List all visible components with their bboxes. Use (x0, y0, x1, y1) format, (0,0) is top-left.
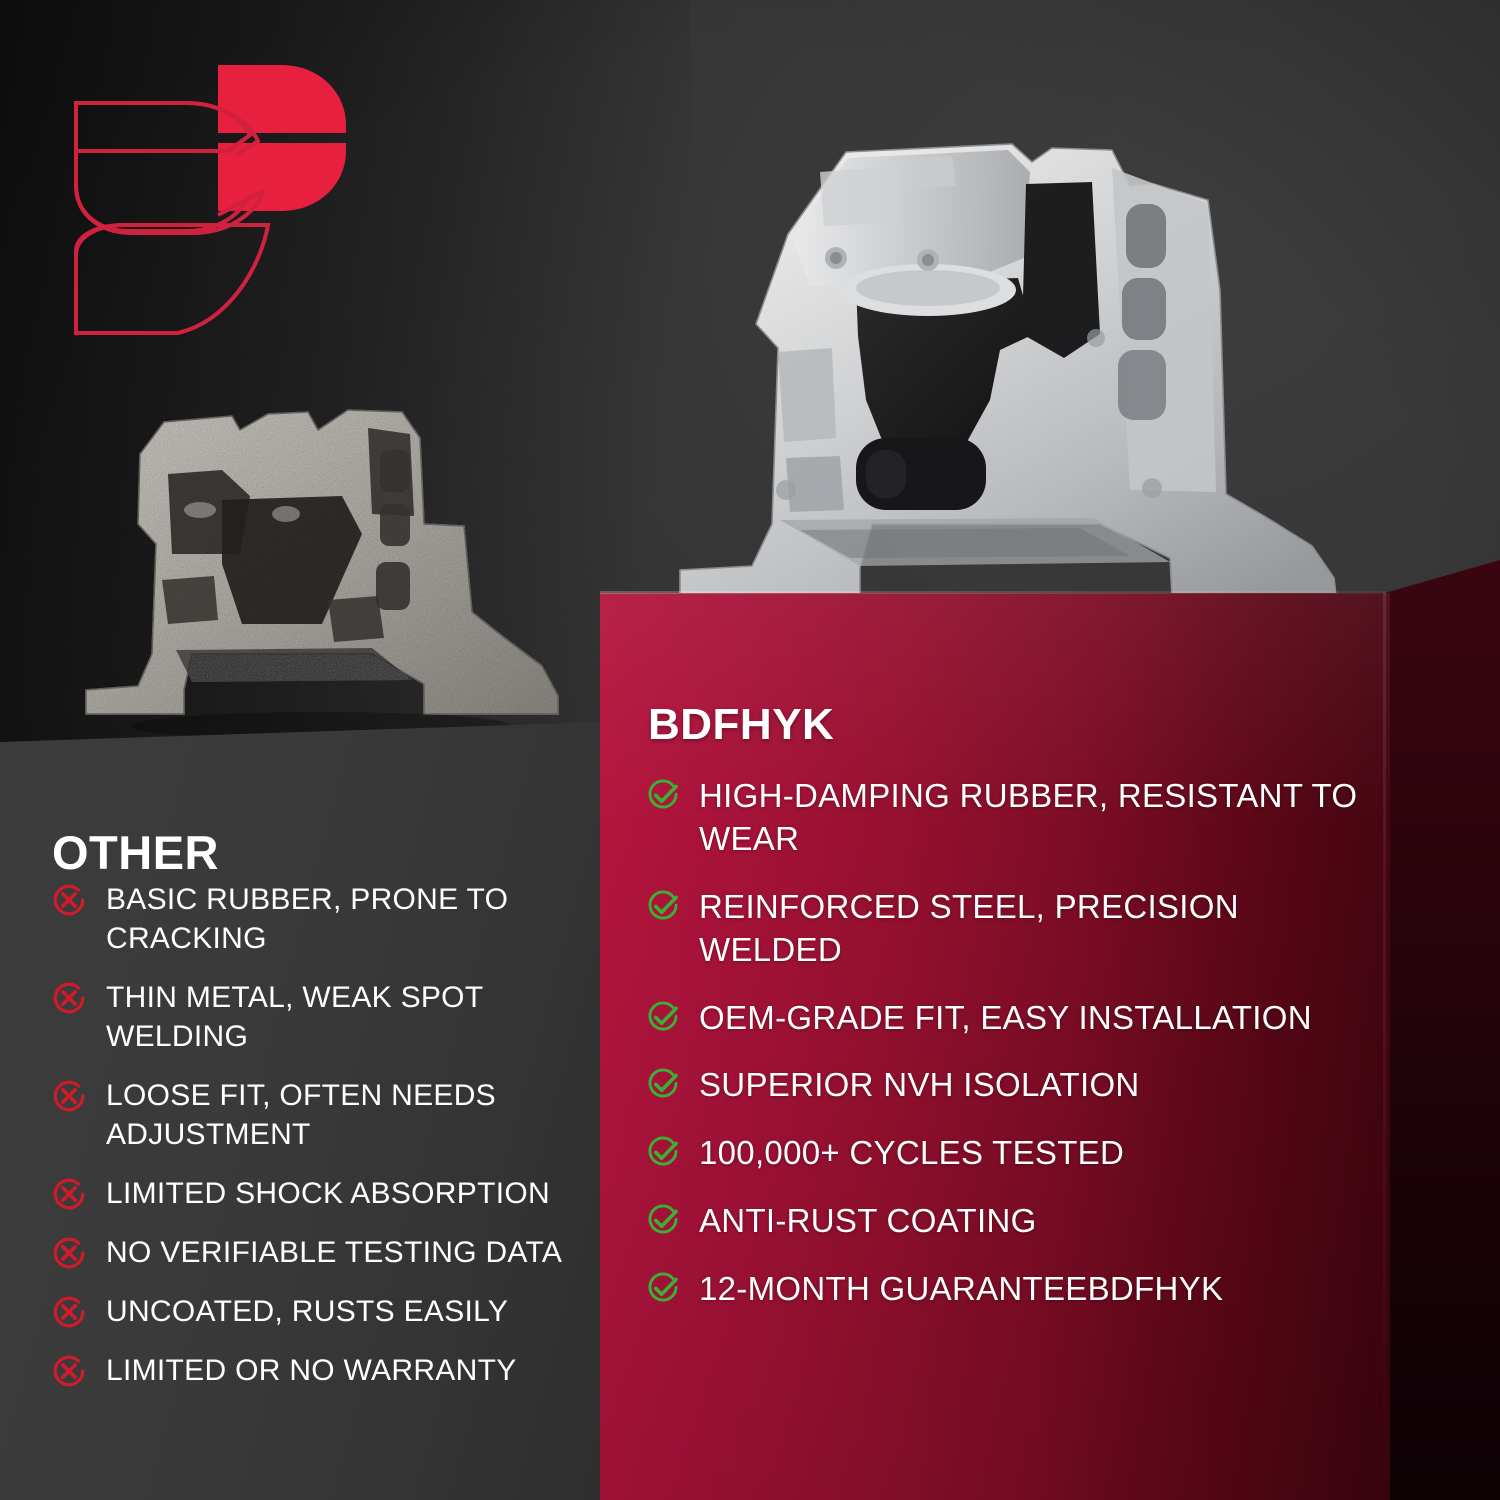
list-item-label: SUPERIOR NVH ISOLATION (699, 1064, 1140, 1107)
list-item-label: LOOSE FIT, OFTEN NEEDS ADJUSTMENT (106, 1076, 580, 1154)
x-circle-icon (50, 881, 88, 919)
comparison-infographic: OTHER BASIC RUBBER, PRONE TO CRACKINGTHI… (0, 0, 1500, 1500)
brand-panel-title: BDFHYK (648, 703, 834, 747)
list-item-label: OEM-GRADE FIT, EASY INSTALLATION (699, 997, 1312, 1040)
list-item: ANTI-RUST COATING (645, 1200, 1385, 1243)
list-item: REINFORCED STEEL, PRECISION WELDED (645, 886, 1385, 972)
list-item-label: LIMITED SHOCK ABSORPTION (106, 1174, 550, 1213)
check-circle-icon (645, 1270, 681, 1306)
list-item-label: LIMITED OR NO WARRANTY (106, 1351, 517, 1390)
worn-engine-mount-bracket (72, 404, 592, 749)
list-item: 100,000+ CYCLES TESTED (645, 1132, 1385, 1175)
brand-panel-side-face (1385, 560, 1500, 1500)
check-circle-icon (645, 1066, 681, 1102)
list-item-label: 100,000+ CYCLES TESTED (699, 1132, 1124, 1175)
list-item: LIMITED OR NO WARRANTY (50, 1351, 580, 1390)
list-item: OEM-GRADE FIT, EASY INSTALLATION (645, 997, 1385, 1040)
x-circle-icon (50, 979, 88, 1017)
list-item: 12-MONTH GUARANTEEBDFHYK (645, 1268, 1385, 1311)
other-feature-list: BASIC RUBBER, PRONE TO CRACKINGTHIN META… (50, 880, 580, 1410)
check-circle-icon (645, 1202, 681, 1238)
check-circle-icon (645, 888, 681, 924)
list-item: BASIC RUBBER, PRONE TO CRACKING (50, 880, 580, 958)
list-item-label: 12-MONTH GUARANTEEBDFHYK (699, 1268, 1223, 1311)
list-item-label: BASIC RUBBER, PRONE TO CRACKING (106, 880, 580, 958)
list-item: NO VERIFIABLE TESTING DATA (50, 1233, 580, 1272)
list-item: SUPERIOR NVH ISOLATION (645, 1064, 1385, 1107)
other-panel-title: OTHER (52, 829, 219, 876)
brand-feature-list: HIGH-DAMPING RUBBER, RESISTANT TO WEARRE… (645, 775, 1385, 1336)
list-item: HIGH-DAMPING RUBBER, RESISTANT TO WEAR (645, 775, 1385, 861)
x-circle-icon (50, 1175, 88, 1213)
x-circle-icon (50, 1293, 88, 1331)
check-circle-icon (645, 1134, 681, 1170)
list-item: THIN METAL, WEAK SPOT WELDING (50, 978, 580, 1056)
brand-logo (68, 55, 358, 340)
list-item-label: HIGH-DAMPING RUBBER, RESISTANT TO WEAR (699, 775, 1385, 861)
check-circle-icon (645, 777, 681, 813)
x-circle-icon (50, 1077, 88, 1115)
brand-panel-top-highlight (600, 591, 1386, 594)
x-circle-icon (50, 1234, 88, 1272)
x-circle-icon (50, 1352, 88, 1390)
list-item-label: UNCOATED, RUSTS EASILY (106, 1292, 508, 1331)
new-engine-mount-bracket (660, 138, 1380, 608)
list-item: LOOSE FIT, OFTEN NEEDS ADJUSTMENT (50, 1076, 580, 1154)
list-item: LIMITED SHOCK ABSORPTION (50, 1174, 580, 1213)
list-item-label: NO VERIFIABLE TESTING DATA (106, 1233, 562, 1272)
check-circle-icon (645, 999, 681, 1035)
list-item: UNCOATED, RUSTS EASILY (50, 1292, 580, 1331)
list-item-label: THIN METAL, WEAK SPOT WELDING (106, 978, 580, 1056)
list-item-label: REINFORCED STEEL, PRECISION WELDED (699, 886, 1385, 972)
list-item-label: ANTI-RUST COATING (699, 1200, 1037, 1243)
